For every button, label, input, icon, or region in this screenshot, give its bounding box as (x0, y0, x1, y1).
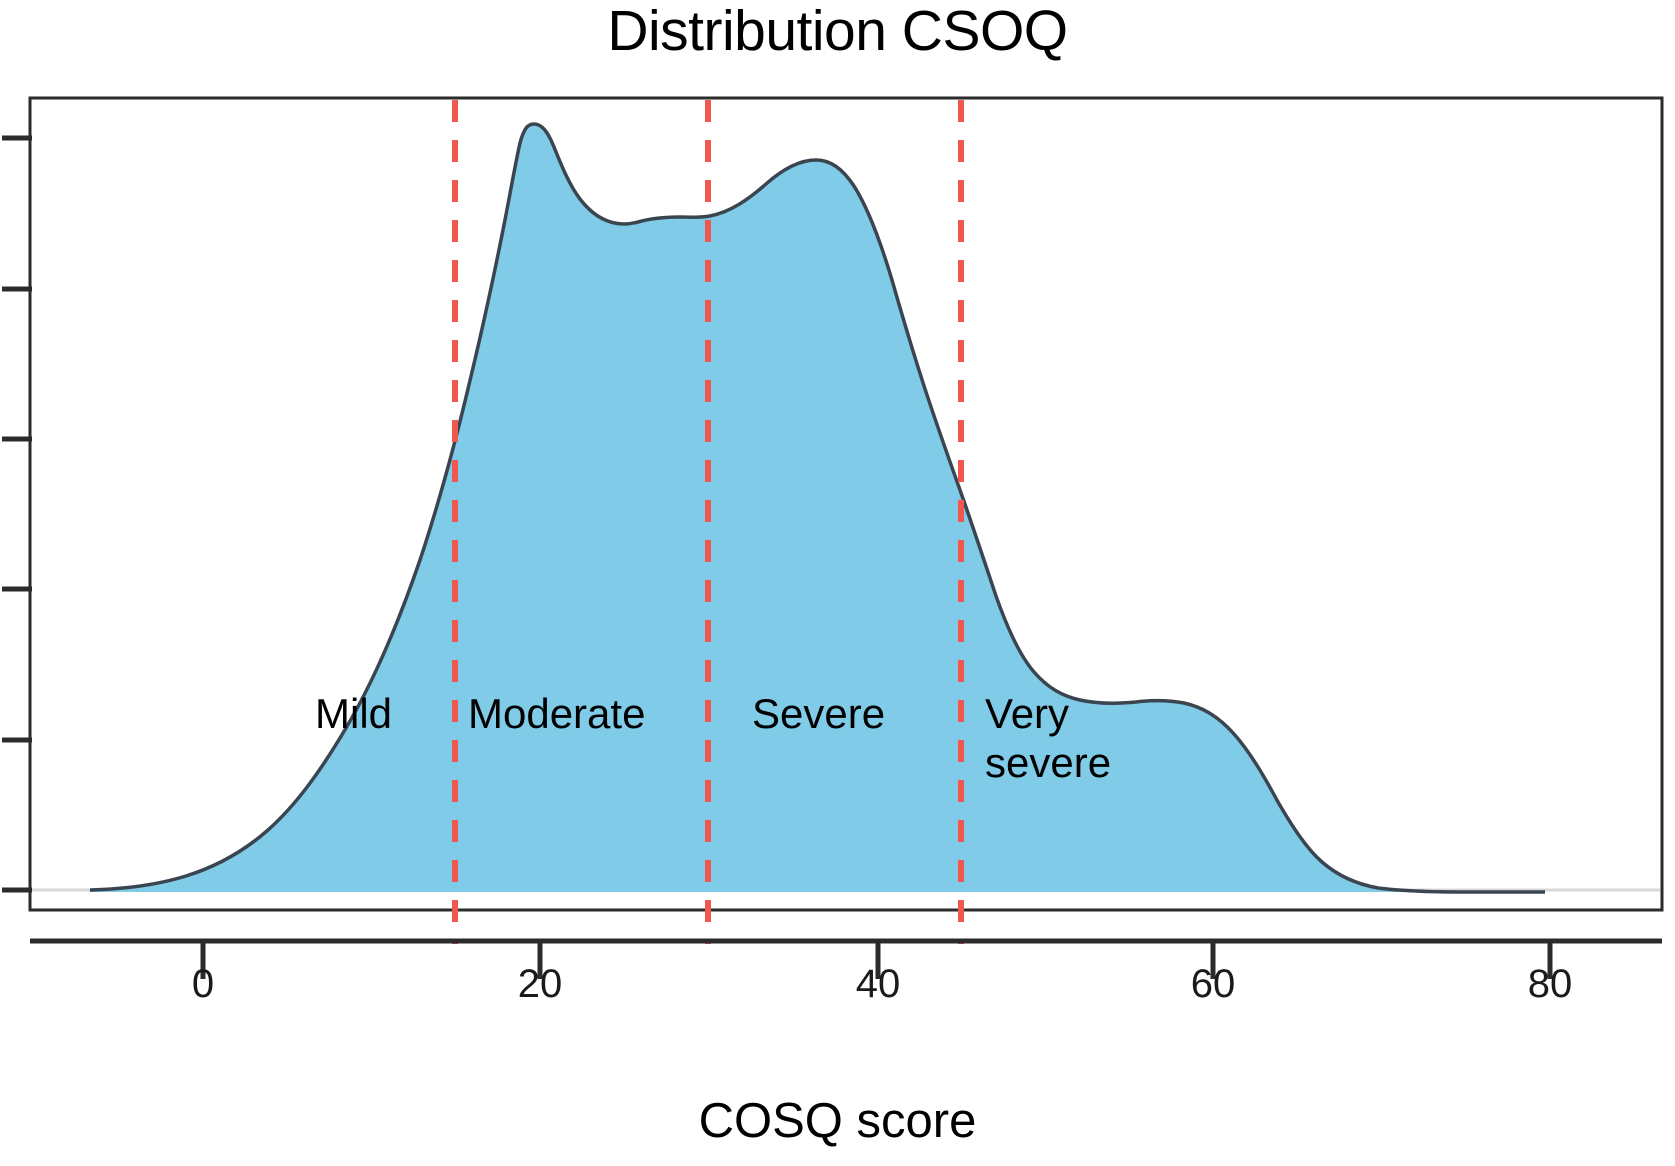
region-label-very-severe: Very severe (985, 690, 1111, 787)
region-label-moderate: Moderate (468, 690, 645, 739)
x-tick-label-60: 60 (1153, 962, 1273, 1007)
x-tick-label-80: 80 (1490, 962, 1610, 1007)
chart-figure: Distribution CSOQ (0, 0, 1675, 1166)
x-tick-label-20: 20 (480, 962, 600, 1007)
y-axis-ticks (2, 138, 32, 890)
density-area (90, 124, 1545, 892)
region-label-severe: Severe (752, 690, 885, 739)
region-label-mild: Mild (315, 690, 392, 739)
x-tick-label-40: 40 (818, 962, 938, 1007)
x-axis-title: COSQ score (0, 1093, 1675, 1149)
x-tick-label-0: 0 (143, 962, 263, 1007)
